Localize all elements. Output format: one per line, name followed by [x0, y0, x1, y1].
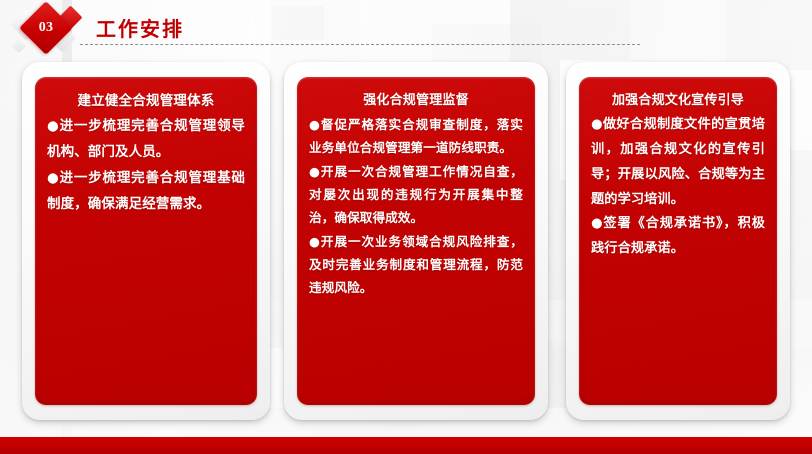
card-establish-system[interactable]: 建立健全合规管理体系 ●进一步梳理完善合规管理领导机构、部门及人员。 ●进一步梳… [22, 62, 270, 420]
list-item: ●进一步梳理完善合规管理基础制度，确保满足经营需求。 [47, 166, 245, 218]
decor-diamond-gray-small [12, 39, 26, 53]
card-title: 强化合规管理监督 [309, 91, 523, 111]
diamond-badge-icon: 03 [8, 0, 94, 62]
list-item: ●签署《合规承诺书》，积极践行合规承诺。 [591, 212, 765, 262]
card-title: 建立健全合规管理体系 [47, 91, 245, 112]
card-panel: 加强合规文化宣传引导 ●做好合规制度文件的宣贯培训，加强合规文化的宣传引导；开展… [579, 77, 777, 405]
slide-header: 03 工作安排 [0, 0, 812, 62]
list-item: ●督促严格落实合规审查制度，落实业务单位合规管理第一道防线职责。 [309, 113, 523, 160]
list-item: ●开展一次合规管理工作情况自查，对屡次出现的违规行为开展集中整治，确保取得成效。 [309, 160, 523, 230]
red-accent-bar [0, 437, 812, 454]
section-number-label: 03 [27, 9, 65, 47]
page-title: 工作安排 [96, 13, 184, 42]
card-bullet-list: ●督促严格落实合规审查制度，落实业务单位合规管理第一道防线职责。 ●开展一次合规… [309, 113, 523, 299]
card-bullet-list: ●做好合规制度文件的宣贯培训，加强合规文化的宣传引导；开展以风险、合规等为主题的… [591, 113, 765, 262]
card-panel: 强化合规管理监督 ●督促严格落实合规审查制度，落实业务单位合规管理第一道防线职责… [297, 77, 535, 405]
slide-root: 03 工作安排 建立健全合规管理体系 ●进一步梳理完善合规管理领导机构、部门及人… [0, 0, 812, 454]
card-culture-promotion[interactable]: 加强合规文化宣传引导 ●做好合规制度文件的宣贯培训，加强合规文化的宣传引导；开展… [566, 62, 790, 420]
list-item: ●进一步梳理完善合规管理领导机构、部门及人员。 [47, 114, 245, 166]
list-item: ●做好合规制度文件的宣贯培训，加强合规文化的宣传引导；开展以风险、合规等为主题的… [591, 113, 765, 212]
card-panel: 建立健全合规管理体系 ●进一步梳理完善合规管理领导机构、部门及人员。 ●进一步梳… [35, 77, 257, 405]
card-bullet-list: ●进一步梳理完善合规管理领导机构、部门及人员。 ●进一步梳理完善合规管理基础制度… [47, 114, 245, 218]
list-item: ●开展一次业务领域合规风险排查，及时完善业务制度和管理流程，防范违规风险。 [309, 230, 523, 300]
content-cards: 建立健全合规管理体系 ●进一步梳理完善合规管理领导机构、部门及人员。 ●进一步梳… [0, 62, 812, 427]
card-title: 加强合规文化宣传引导 [591, 91, 765, 111]
card-strengthen-supervision[interactable]: 强化合规管理监督 ●督促严格落实合规审查制度，落实业务单位合规管理第一道防线职责… [284, 62, 548, 420]
dashed-divider-icon [80, 44, 640, 45]
